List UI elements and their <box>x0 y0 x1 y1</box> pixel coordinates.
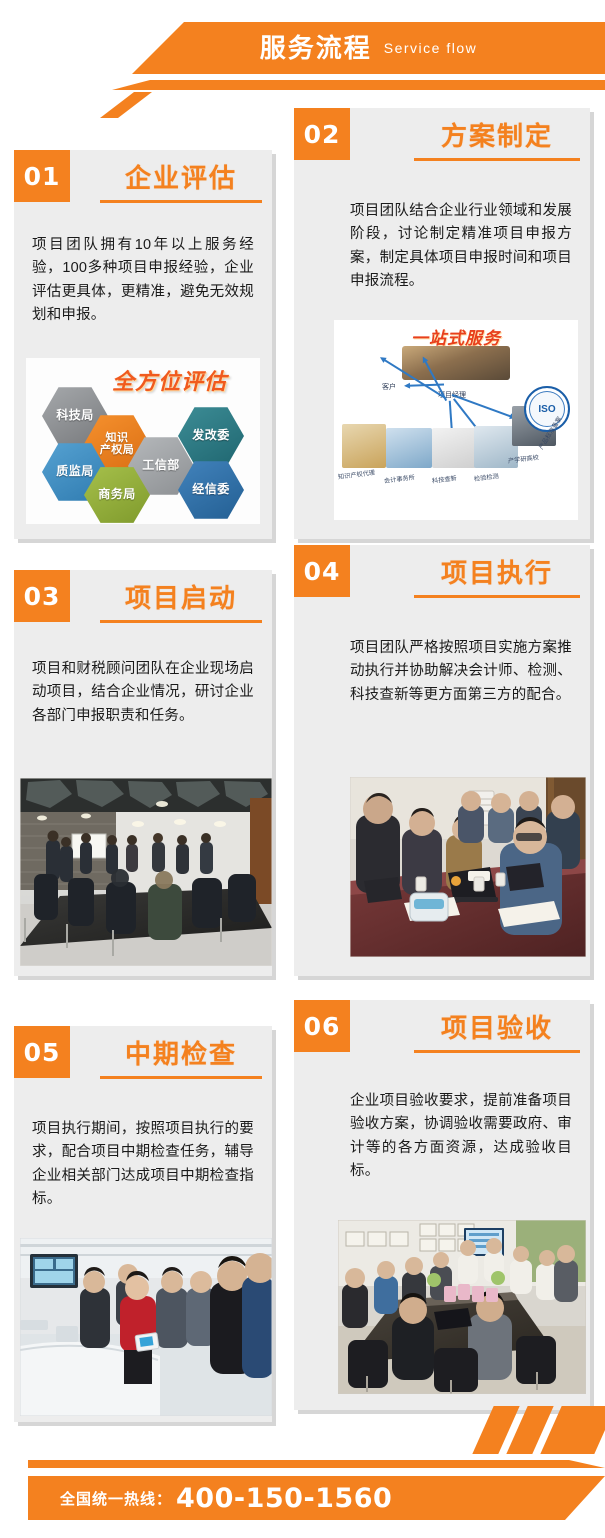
oss-node-novelty <box>432 428 476 468</box>
title-underline <box>100 1076 262 1079</box>
step-title: 项目执行 <box>414 559 580 588</box>
oss-canvas: 一站式服务 客户 项目经理 ISO 知识产权代理 会计事务所 科技查新 检验检测… <box>334 320 578 520</box>
footer-slash-decoration <box>475 1420 605 1538</box>
step-title-block: 方案制定 <box>414 122 580 161</box>
step-title-block: 项目验收 <box>414 1014 580 1053</box>
one-stop-service-diagram: 一站式服务 客户 项目经理 ISO 知识产权代理 会计事务所 科技查新 检验检测… <box>334 320 578 520</box>
oss-caption-ip: 知识产权代理 <box>337 468 375 481</box>
step-number: 04 <box>304 557 341 586</box>
step-title-block: 企业评估 <box>100 164 262 203</box>
step-number-badge: 06 <box>294 1000 350 1052</box>
execution-meeting-photo <box>350 777 586 957</box>
conference-room-photo <box>20 778 272 966</box>
step-card-05: 05 中期检查 项目执行期间，按照项目执行的要求，配合项目中期检查任务，辅导企业… <box>14 1026 276 1426</box>
step-title: 企业评估 <box>100 164 262 193</box>
step-title: 中期检查 <box>100 1040 262 1069</box>
page-footer: 全国统一热线： 400-150-1560 <box>0 1420 605 1538</box>
step-title: 方案制定 <box>414 122 580 151</box>
step-number: 03 <box>24 582 61 611</box>
step-photo <box>20 778 272 966</box>
oss-hub-photo <box>402 346 510 380</box>
footer-hotline-label: 全国统一热线： <box>60 1488 172 1509</box>
step-number-badge: 04 <box>294 545 350 597</box>
header-banner-stripe <box>112 80 605 90</box>
step-description: 项目团队结合企业行业领域和发展阶段，讨论制定精准项目申报方案，制定具体项目申报时… <box>350 200 572 294</box>
page-header: 服务流程 Service flow <box>0 0 605 118</box>
acceptance-meeting-photo <box>338 1220 586 1394</box>
step-title-block: 项目执行 <box>414 559 580 598</box>
oss-seal-text: ISO <box>538 404 555 415</box>
hexagon-canvas: 全方位评估 科技局 知识产权局 质监局 工信部 商务局 发改委 经信委 <box>26 358 260 524</box>
step-number: 06 <box>304 1012 341 1041</box>
step-photo <box>338 1220 586 1394</box>
title-underline <box>414 1050 580 1053</box>
title-underline <box>414 595 580 598</box>
step-card-01: 01 企业评估 项目团队拥有10年以上服务经验，100多种项目申报经验，企业评估… <box>14 150 276 543</box>
step-number: 02 <box>304 120 341 149</box>
oss-caption-accounting: 会计事务所 <box>383 472 415 485</box>
step-card-04: 04 项目执行 项目团队严格按照项目实施方案推动执行并协助解决会计师、检测、科技… <box>294 545 594 980</box>
step-number: 05 <box>24 1038 61 1067</box>
footer-hotline: 全国统一热线： 400-150-1560 <box>60 1476 392 1520</box>
step-photo <box>350 777 586 957</box>
oss-caption-testing: 检验检测 <box>473 471 499 483</box>
step-title: 项目启动 <box>100 584 262 613</box>
step-card-06: 06 项目验收 企业项目验收要求，提前准备项目验收方案，协调验收需要政府、审计等… <box>294 1000 594 1414</box>
footer-hotline-number: 400-150-1560 <box>176 1483 392 1514</box>
hexagon-heading: 全方位评估 <box>112 364 227 396</box>
hexagon-infographic: 全方位评估 科技局 知识产权局 质监局 工信部 商务局 发改委 经信委 <box>26 358 260 524</box>
title-underline <box>100 620 262 623</box>
oss-caption-novelty: 科技查新 <box>431 473 457 485</box>
step-number-badge: 03 <box>14 570 70 622</box>
step-number-badge: 05 <box>14 1026 70 1078</box>
step-card-03: 03 项目启动 项目和财税顾问团队在企业现场启动项目，结合企业情况，研讨企业各部… <box>14 570 276 980</box>
step-description: 项目团队拥有10年以上服务经验，100多种项目申报经验，企业评估更具体，更精准，… <box>32 234 254 328</box>
step-description: 企业项目验收要求，提前准备项目验收方案，协调验收需要政府、审计等的各方面资源，达… <box>350 1090 572 1184</box>
title-underline <box>414 158 580 161</box>
step-number-badge: 01 <box>14 150 70 202</box>
step-card-02: 02 方案制定 项目团队结合企业行业领域和发展阶段，讨论制定精准项目申报方案，制… <box>294 108 594 543</box>
step-description: 项目团队严格按照项目实施方案推动执行并协助解决会计师、检测、科技查新等更方面第三… <box>350 637 572 707</box>
step-number: 01 <box>24 162 61 191</box>
oss-iso-seal: ISO <box>524 386 570 432</box>
step-title-block: 项目启动 <box>100 584 262 623</box>
step-title-block: 中期检查 <box>100 1040 262 1079</box>
step-photo <box>20 1238 272 1416</box>
step-title: 项目验收 <box>414 1014 580 1043</box>
step-description: 项目和财税顾问团队在企业现场启动项目，结合企业情况，研讨企业各部门申报职责和任务… <box>32 658 254 728</box>
header-banner-shape <box>132 22 605 74</box>
oss-node-accounting <box>386 428 432 468</box>
step-number-badge: 02 <box>294 108 350 160</box>
step-description: 项目执行期间，按照项目执行的要求，配合项目中期检查任务，辅导企业相关部门达成项目… <box>32 1118 254 1212</box>
oss-label-customer: 客户 <box>382 382 396 392</box>
oss-node-ip <box>342 424 386 468</box>
site-inspection-photo <box>20 1238 272 1416</box>
title-underline <box>100 200 262 203</box>
